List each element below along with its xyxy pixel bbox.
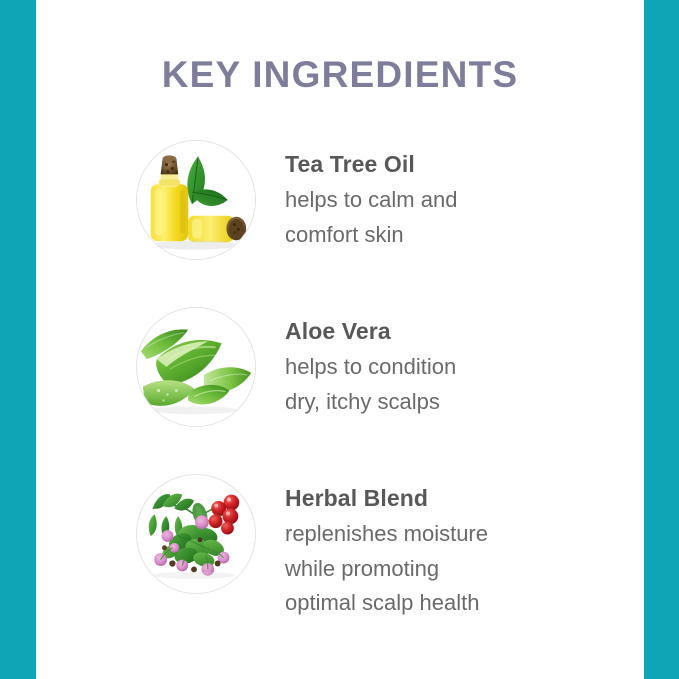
ingredient-text: Tea Tree Oil helps to calm and comfort s… bbox=[285, 140, 644, 252]
description-line: dry, itchy scalps bbox=[285, 385, 585, 420]
left-accent-bar bbox=[0, 0, 36, 679]
description-line: replenishes moisture bbox=[285, 517, 585, 552]
aloe-vera-image bbox=[136, 307, 256, 427]
key-ingredients-poster: KEY INGREDIENTS bbox=[0, 0, 679, 679]
right-accent-bar bbox=[644, 0, 679, 679]
ingredient-name: Herbal Blend bbox=[285, 484, 644, 513]
ingredient-name: Tea Tree Oil bbox=[285, 150, 644, 179]
ingredient-list: Tea Tree Oil helps to calm and comfort s… bbox=[36, 140, 644, 621]
ingredient-description: helps to condition dry, itchy scalps bbox=[285, 350, 585, 420]
ingredient-description: replenishes moisture while promoting opt… bbox=[285, 517, 585, 621]
description-line: optimal scalp health bbox=[285, 586, 585, 621]
ingredient-description: helps to calm and comfort skin bbox=[285, 183, 585, 253]
ingredient-text: Aloe Vera helps to condition dry, itchy … bbox=[285, 307, 644, 419]
description-line: helps to calm and bbox=[285, 183, 585, 218]
herbal-blend-image bbox=[136, 474, 256, 594]
description-line: comfort skin bbox=[285, 218, 585, 253]
description-line: helps to condition bbox=[285, 350, 585, 385]
tea-tree-oil-image bbox=[136, 140, 256, 260]
list-item: Aloe Vera helps to condition dry, itchy … bbox=[36, 307, 644, 427]
page-title: KEY INGREDIENTS bbox=[36, 56, 644, 93]
list-item: Tea Tree Oil helps to calm and comfort s… bbox=[36, 140, 644, 260]
content-panel: KEY INGREDIENTS bbox=[36, 0, 644, 679]
ingredient-name: Aloe Vera bbox=[285, 317, 644, 346]
list-item: Herbal Blend replenishes moisture while … bbox=[36, 474, 644, 621]
ingredient-text: Herbal Blend replenishes moisture while … bbox=[285, 474, 644, 621]
description-line: while promoting bbox=[285, 552, 585, 587]
